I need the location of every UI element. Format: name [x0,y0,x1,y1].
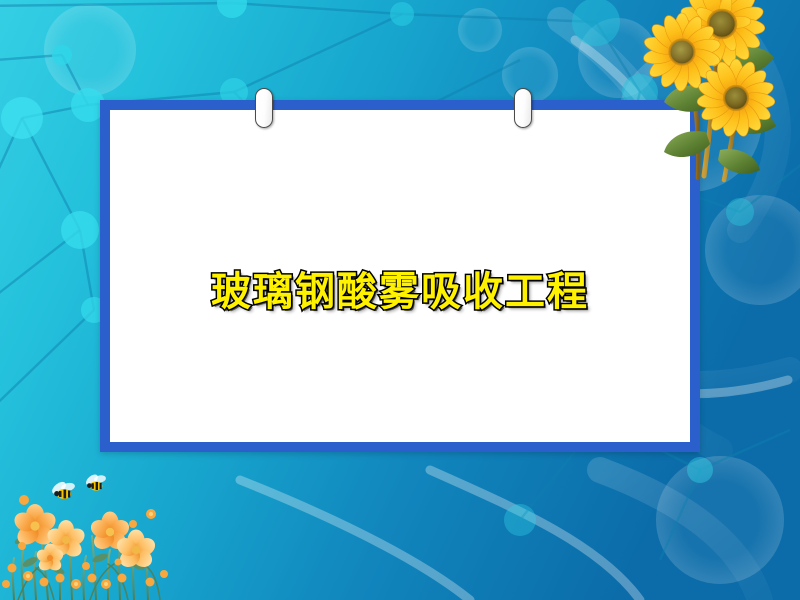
title-card-content: 玻璃钢酸雾吸收工程 [110,110,690,442]
flower-meadow-icon [0,470,175,600]
flower-meadow-decoration [0,470,175,600]
pin-left-icon [255,88,273,128]
page-title: 玻璃钢酸雾吸收工程 [211,259,589,317]
bee-icon-2 [84,472,106,490]
title-card: 玻璃钢酸雾吸收工程 [100,100,700,452]
sunflower-icon [632,0,782,184]
bee-icon [50,480,76,499]
sunflower-decoration [632,0,782,184]
pin-right-icon [514,88,532,128]
presentation-slide: 玻璃钢酸雾吸收工程 [0,0,800,600]
